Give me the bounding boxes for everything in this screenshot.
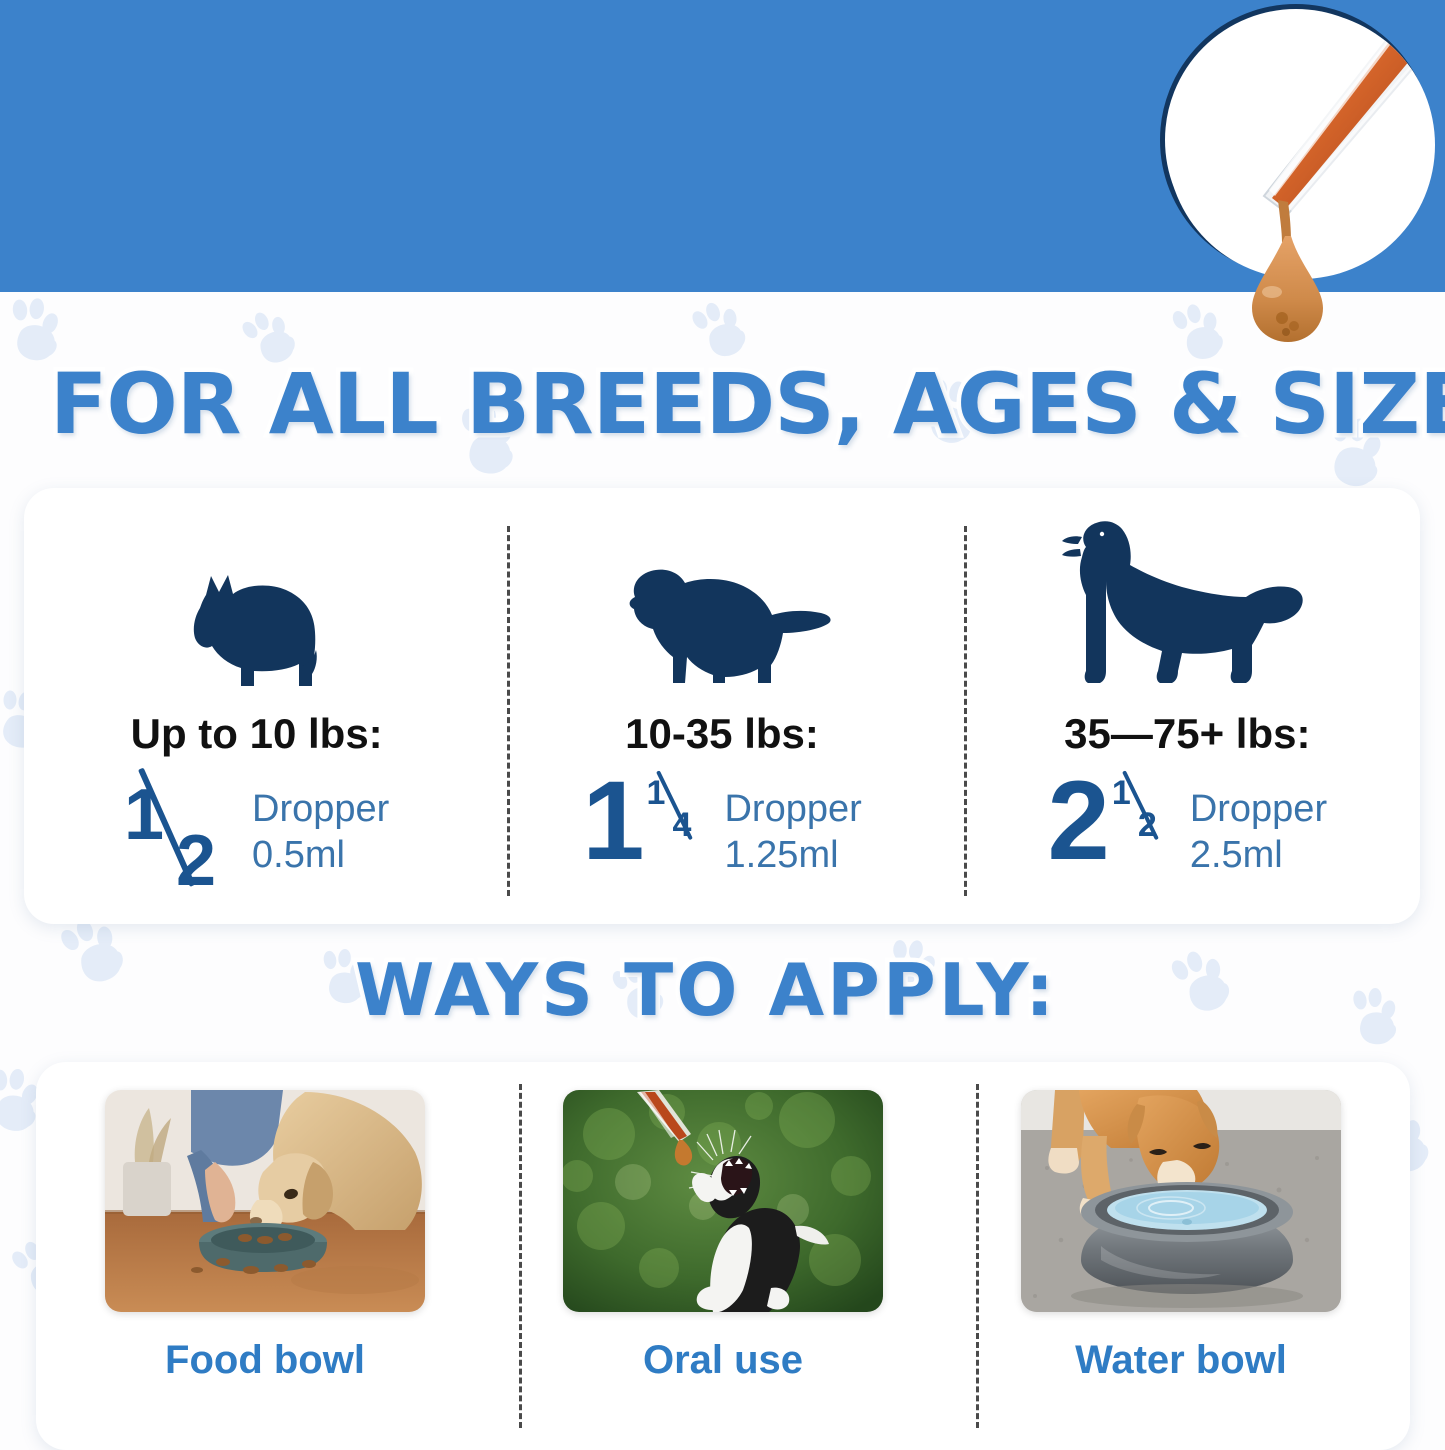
apply-item-water-bowl: Water bowl [952,1062,1410,1450]
apply-label: Food bowl [165,1338,365,1383]
dog-eating-from-food-bowl-photo [105,1090,425,1312]
fraction-denominator: 2 [1138,808,1157,842]
apply-label: Water bowl [1075,1338,1287,1383]
large-dog-silhouette-icon [1052,506,1322,696]
dropper-label: Dropper [252,786,389,832]
dose-fraction: 1 1 4 [582,772,714,871]
dosage-column-small: Up to 10 lbs: 1 2 Dropper 0.5ml [24,488,489,924]
fraction-denominator: 4 [672,808,691,842]
dose-description: Dropper 2.5ml [1190,786,1327,879]
apply-item-food-bowl: Food bowl [36,1062,494,1450]
dog-receiving-dropper-oral-photo [563,1090,883,1312]
dosage-column-large: 35—75+ lbs: 2 1 2 Dropper 2.5ml [955,488,1420,924]
dropper-icon [1160,4,1432,276]
dropper-label: Dropper [1190,786,1327,832]
dose-description: Dropper 1.25ml [724,786,861,879]
breeds-heading: FOR ALL BREEDS, AGES & SIZES [50,355,1445,453]
dose-volume: 0.5ml [252,832,389,878]
dose-description: Dropper 0.5ml [252,786,389,879]
fraction-denominator: 2 [176,820,216,902]
whole-number: 2 [1048,772,1110,871]
weight-label: 35—75+ lbs: [1064,710,1310,758]
dosage-column-medium: 10-35 lbs: 1 1 4 Dropper 1.25ml [489,488,954,924]
apply-label: Oral use [643,1338,803,1383]
ways-to-apply-heading: WAYS TO APPLY: [355,948,1057,1032]
dose-fraction: 2 1 2 [1048,772,1180,871]
weight-label: Up to 10 lbs: [131,710,383,758]
ways-to-apply-card: Food bowl [36,1062,1410,1450]
dose-fraction: 1 2 [124,772,242,892]
dog-drinking-from-water-bowl-photo [1021,1090,1341,1312]
dose-volume: 1.25ml [724,832,861,878]
whole-number: 1 [582,772,644,871]
weight-label: 10-35 lbs: [625,710,819,758]
medium-dog-silhouette-icon [607,506,837,696]
dropper-label: Dropper [724,786,861,832]
apply-item-oral-use: Oral use [494,1062,952,1450]
dosage-card: Up to 10 lbs: 1 2 Dropper 0.5ml [24,488,1420,924]
dose-volume: 2.5ml [1190,832,1327,878]
small-dog-silhouette-icon [162,506,352,696]
